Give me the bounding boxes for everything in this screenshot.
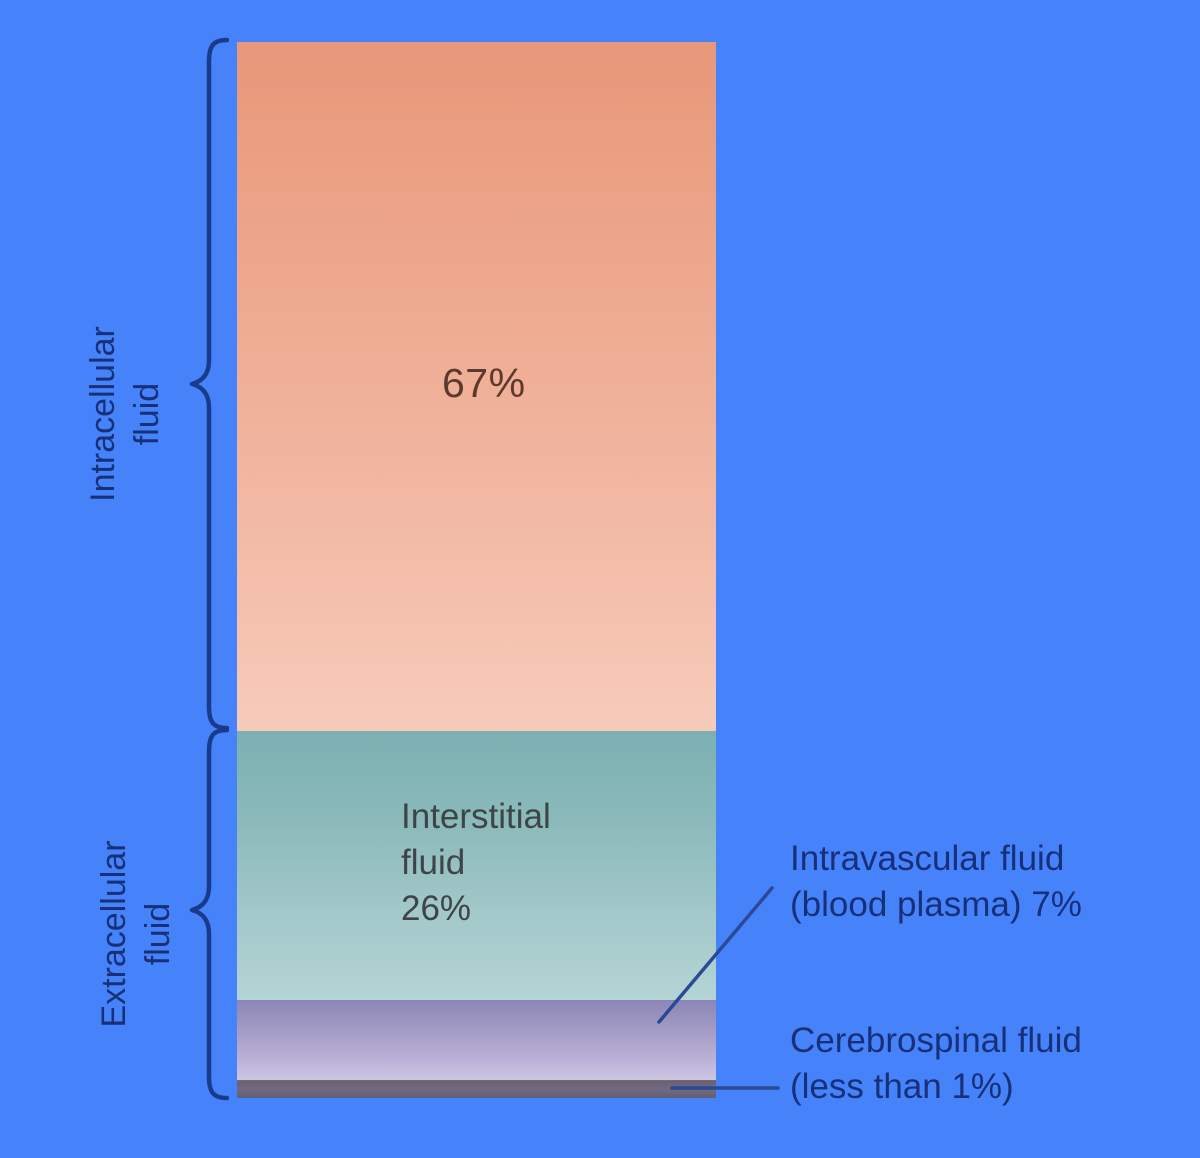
callout-intravascular-line1: Intravascular fluid bbox=[790, 836, 1082, 882]
group-label-extracellular-line1: Extracellular bbox=[92, 784, 136, 1084]
figure-canvas: 67% Interstitial fluid 26% Intracellular… bbox=[0, 0, 1200, 1158]
interstitial-label-line2: fluid bbox=[401, 840, 551, 886]
stacked-bar-chart: 67% Interstitial fluid 26% bbox=[237, 42, 716, 1098]
interstitial-label-line1: Interstitial bbox=[401, 794, 551, 840]
group-label-extracellular-fluid: Extracellular fluid bbox=[92, 784, 180, 1084]
group-label-intracellular-line1: Intracellular bbox=[81, 264, 125, 564]
bar-segment-intravascular-fluid bbox=[237, 1000, 716, 1080]
group-label-intracellular-fluid: Intracellular fluid bbox=[81, 264, 169, 564]
bar-segment-cerebrospinal-fluid bbox=[237, 1080, 716, 1098]
group-label-extracellular-line2: fluid bbox=[136, 784, 180, 1084]
interstitial-label-line3: 26% bbox=[401, 886, 551, 932]
callout-cerebrospinal-line1: Cerebrospinal fluid bbox=[790, 1018, 1082, 1064]
callout-intravascular-fluid: Intravascular fluid (blood plasma) 7% bbox=[790, 836, 1082, 928]
callout-cerebrospinal-line2: (less than 1%) bbox=[790, 1064, 1082, 1110]
interstitial-fluid-label: Interstitial fluid 26% bbox=[401, 794, 551, 932]
brace-intracellular-fluid bbox=[183, 36, 229, 734]
intracellular-percent-label: 67% bbox=[442, 360, 526, 407]
callout-cerebrospinal-fluid: Cerebrospinal fluid (less than 1%) bbox=[790, 1018, 1082, 1110]
callout-intravascular-line2: (blood plasma) 7% bbox=[790, 882, 1082, 928]
brace-extracellular-fluid bbox=[183, 726, 229, 1104]
group-label-intracellular-line2: fluid bbox=[125, 264, 169, 564]
